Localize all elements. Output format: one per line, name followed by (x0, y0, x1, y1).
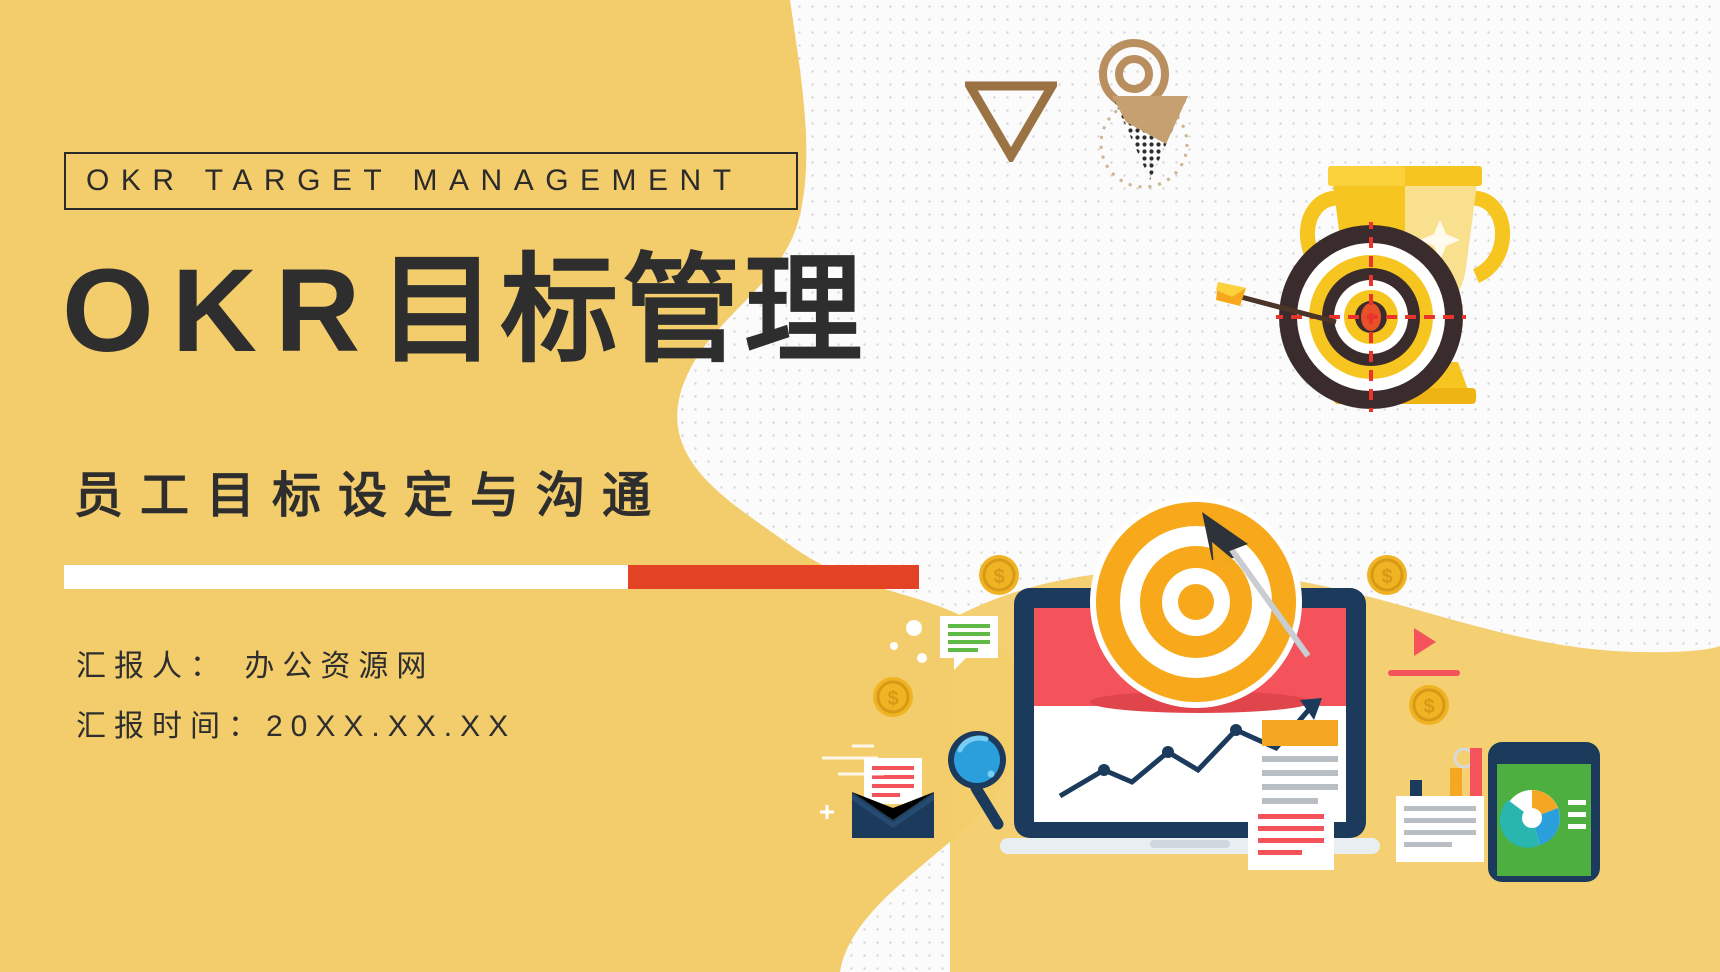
triangle-outline-icon (965, 80, 1057, 162)
page-title: OKR目标管理 (62, 252, 866, 370)
halftone-triangle-icon (1106, 92, 1194, 184)
progress-fill-accent (628, 565, 919, 589)
kicker-text: OKR TARGET MANAGEMENT (66, 164, 743, 198)
progress-track-white (64, 565, 628, 589)
kicker-box: OKR TARGET MANAGEMENT (64, 152, 798, 210)
page-subtitle: 员工目标设定与沟通 (74, 456, 668, 527)
yellow-wash-shape (950, 560, 1720, 972)
progress-bar (64, 565, 919, 589)
slide-root: OKR TARGET MANAGEMENT OKR目标管理 员工目标设定与沟通 … (0, 0, 1720, 972)
date-line: 汇报时间：20XX.XX.XX (76, 701, 516, 745)
presenter-line: 汇报人： 办公资源网 (76, 641, 434, 685)
page-title-cjk: 目标管理 (378, 245, 866, 377)
page-title-latin: OKR (62, 245, 378, 377)
